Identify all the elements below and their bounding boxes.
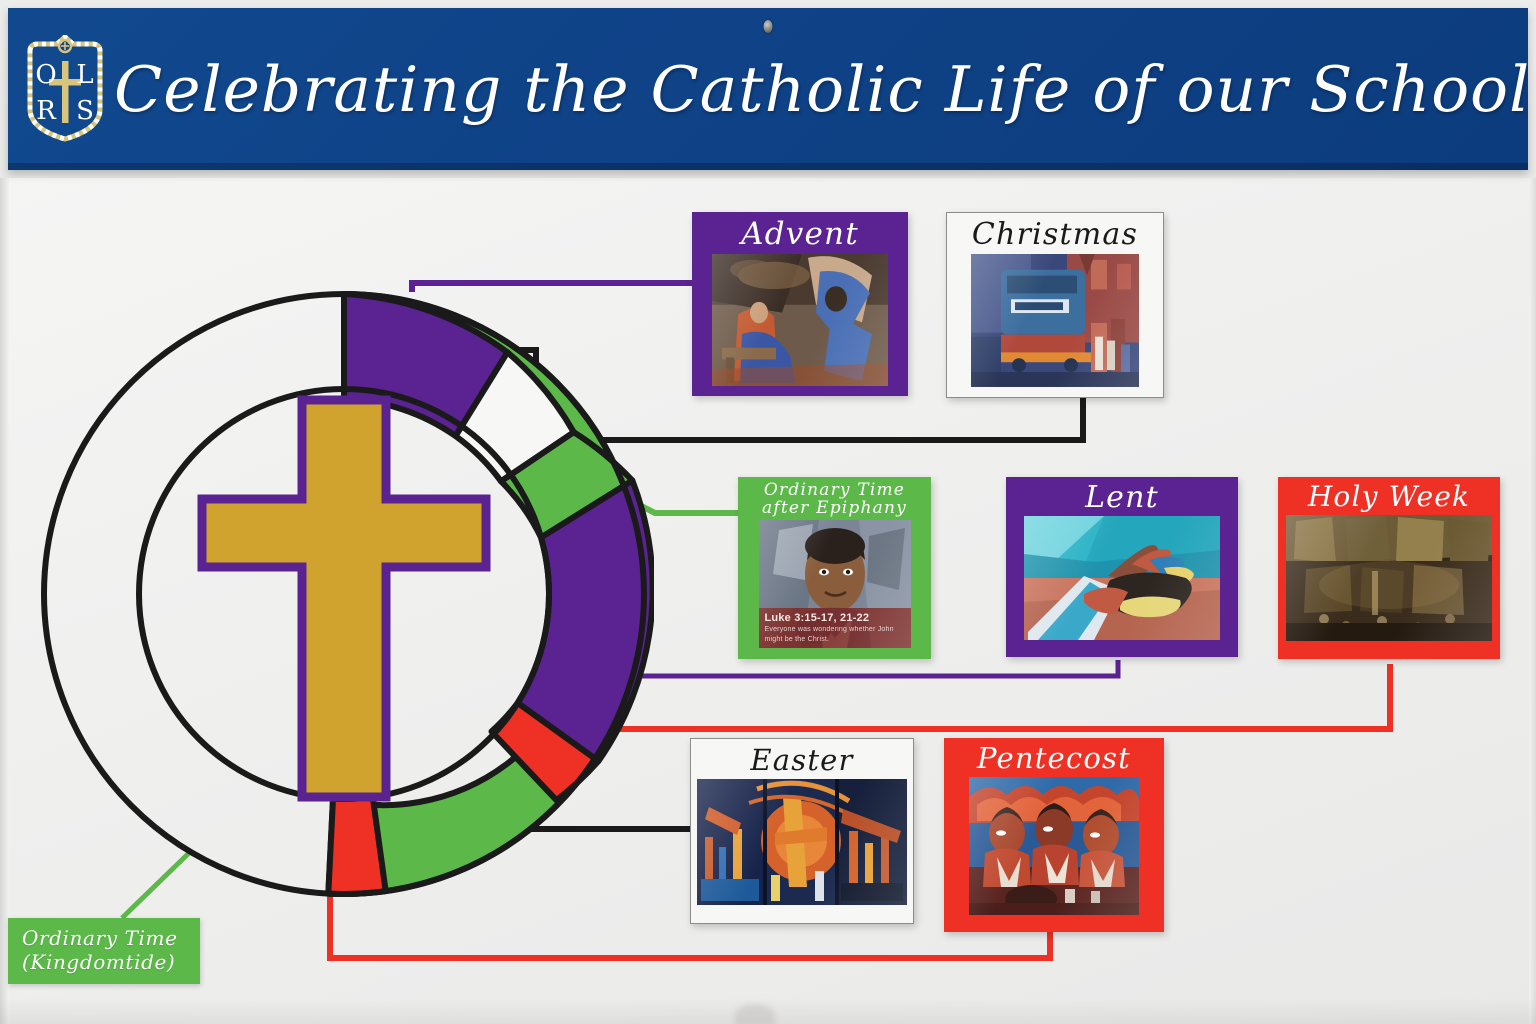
- artwork-resurrection-triptych: [697, 779, 907, 905]
- card-title-holy-week: Holy Week: [1308, 482, 1470, 511]
- card-christmas[interactable]: Christmas: [946, 212, 1164, 398]
- artwork-annunciation: [712, 254, 888, 386]
- svg-text:O: O: [35, 60, 56, 90]
- artwork-pentecost-flames: [969, 777, 1139, 915]
- artwork-cupped-hands: [1024, 516, 1220, 640]
- card-pentecost[interactable]: Pentecost: [944, 738, 1164, 932]
- card-holy-week[interactable]: Holy Week: [1278, 477, 1500, 659]
- liturgical-year-wheel: [34, 284, 654, 904]
- card-title-lent: Lent: [1085, 482, 1159, 513]
- wheel-segment-pentecost: [328, 797, 385, 894]
- card-title-pentecost: Pentecost: [977, 743, 1131, 773]
- legend-line1: Ordinary Time: [22, 927, 200, 951]
- banner-screw: [764, 20, 773, 33]
- display-board: O L R S Celebrating the Catholic Life of…: [0, 0, 1536, 1024]
- artwork-christmas-street: [971, 254, 1139, 387]
- card-title-advent: Advent: [741, 218, 859, 250]
- banner-header: O L R S Celebrating the Catholic Life of…: [8, 8, 1528, 170]
- gold-cross-icon: [202, 400, 486, 797]
- card-advent[interactable]: Advent: [692, 212, 908, 396]
- caption-verse: Everyone was wondering whether John migh…: [765, 625, 905, 644]
- card-easter[interactable]: Easter: [690, 738, 914, 924]
- wall-edge-left: [0, 178, 9, 1024]
- artwork-caption: Luke 3:15-17, 21-22 Everyone was wonderi…: [759, 608, 911, 649]
- page-title: Celebrating the Catholic Life of our Sch…: [108, 58, 1528, 121]
- school-crest-left: O L R S: [22, 35, 108, 143]
- legend-line2: (Kingdomtide): [22, 951, 200, 975]
- legend-ordinary-time-kingdomtide[interactable]: Ordinary Time (Kingdomtide): [8, 918, 200, 984]
- svg-text:R: R: [36, 96, 57, 126]
- artwork-baptism-portrait: Luke 3:15-17, 21-22 Everyone was wonderi…: [759, 520, 911, 648]
- artwork-passion-crowd: [1286, 515, 1492, 641]
- svg-text:S: S: [76, 96, 94, 126]
- card-title-ordinary-epiphany: Ordinary Time after Epiphany: [762, 482, 907, 517]
- svg-text:L: L: [76, 60, 93, 90]
- caption-reference: Luke 3:15-17, 21-22: [765, 611, 905, 626]
- card-title-christmas: Christmas: [972, 219, 1138, 250]
- card-title-easter: Easter: [750, 745, 853, 775]
- card-title-line2: after Epiphany: [762, 498, 907, 518]
- wall-edge-right: [1529, 178, 1536, 1024]
- card-ordinary-time-epiphany[interactable]: Ordinary Time after Epiphany: [738, 477, 931, 659]
- wall-scuff: [735, 1004, 775, 1024]
- card-lent[interactable]: Lent: [1006, 477, 1238, 657]
